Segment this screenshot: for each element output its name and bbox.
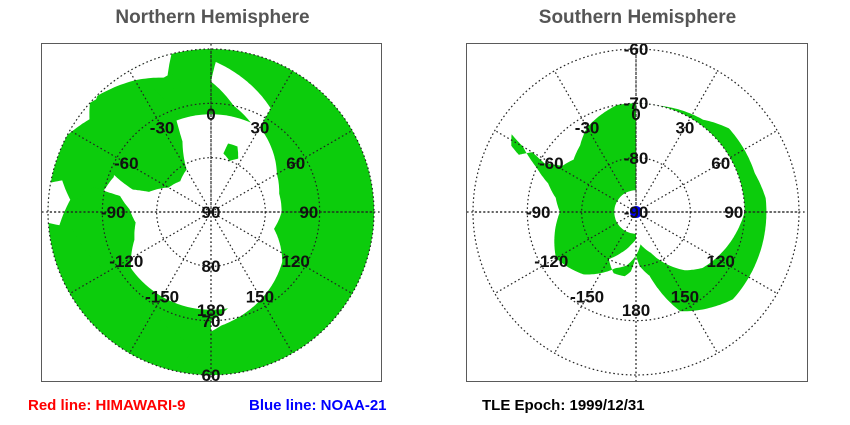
longitude-label: 0 [206, 105, 215, 124]
northern-hemisphere-panel: Northern Hemisphere 0306090120150180-150… [0, 0, 425, 400]
longitude-label: 120 [707, 252, 735, 271]
screenshot-root: Northern Hemisphere 0306090120150180-150… [0, 0, 850, 425]
northern-hemisphere-map-svg: 0306090120150180-150-120-90-60-309080706… [42, 44, 381, 381]
longitude-label: -90 [526, 203, 551, 222]
longitude-label: 30 [250, 118, 269, 137]
northern-hemisphere-plot: 0306090120150180-150-120-90-60-309080706… [41, 43, 382, 382]
longitude-label: -90 [101, 203, 126, 222]
southern-hemisphere-map-svg: 0306090120150180-150-120-90-60-30-90-80-… [467, 44, 807, 381]
longitude-label: 90 [724, 203, 743, 222]
longitude-label: 150 [671, 288, 699, 307]
longitude-label: 60 [711, 154, 730, 173]
latitude-label: 70 [202, 312, 221, 331]
southern-hemisphere-panel: Southern Hemisphere 0306090120150180-150… [425, 0, 850, 400]
longitude-label: -60 [539, 154, 564, 173]
latitude-label: -90 [624, 203, 649, 222]
longitude-label: -60 [114, 154, 139, 173]
longitude-label: -120 [534, 252, 568, 271]
longitude-label: 60 [286, 154, 305, 173]
latitude-label: 80 [202, 257, 221, 276]
longitude-label: -120 [109, 252, 143, 271]
longitude-label: -150 [145, 288, 179, 307]
latitude-label: 90 [202, 203, 221, 222]
longitude-label: -30 [575, 118, 600, 137]
latitude-label: 60 [202, 366, 221, 381]
longitude-label: 180 [622, 301, 650, 320]
southern-hemisphere-title: Southern Hemisphere [425, 7, 850, 29]
longitude-label: 90 [299, 203, 318, 222]
northern-hemisphere-title: Northern Hemisphere [0, 7, 425, 29]
longitude-label: -30 [150, 118, 175, 137]
legend-red-line: Red line: HIMAWARI-9 [28, 397, 186, 414]
longitude-label: 120 [282, 252, 310, 271]
legend-tle-epoch: TLE Epoch: 1999/12/31 [482, 397, 645, 414]
southern-hemisphere-plot: 0306090120150180-150-120-90-60-30-90-80-… [466, 43, 808, 382]
longitude-label: -150 [570, 288, 604, 307]
latitude-label: -80 [624, 149, 649, 168]
latitude-label: -70 [624, 94, 649, 113]
longitude-label: 150 [246, 288, 274, 307]
longitude-label: 30 [675, 118, 694, 137]
latitude-label: -60 [624, 44, 649, 59]
legend-blue-line: Blue line: NOAA-21 [249, 397, 387, 414]
